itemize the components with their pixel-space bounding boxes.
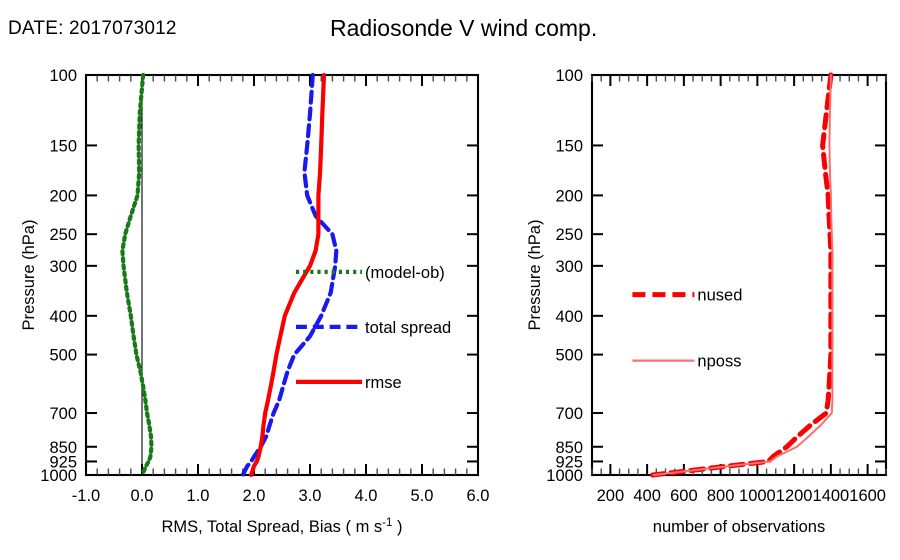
legend-label: nposs — [697, 353, 741, 371]
x-tick-label: 1000 — [739, 487, 776, 505]
y-tick-label: 100 — [49, 67, 77, 85]
x-axis-title-text: RMS, Total Spread, Bias ( m s — [161, 518, 382, 536]
y-tick-label: 700 — [555, 405, 583, 423]
x-tick-label: 0.0 — [131, 487, 154, 505]
x-tick-label: 2.0 — [243, 487, 266, 505]
x-tick-label: 800 — [707, 487, 735, 505]
series-nused — [653, 75, 831, 475]
legend-item-nused: nused — [632, 287, 742, 305]
x-tick-label: 1.0 — [187, 487, 210, 505]
date-label: DATE: 2017073012 — [8, 18, 177, 40]
y-tick-label: 1000 — [40, 467, 77, 485]
panel-right: 2004006008001000120014001600100150200250… — [526, 67, 886, 536]
y-tick-label: 700 — [49, 405, 77, 423]
x-axis-title: number of observations — [653, 518, 825, 536]
figure-canvas: -1.00.01.02.03.04.05.06.0100150200250300… — [0, 0, 900, 560]
y-tick-label: 300 — [49, 258, 77, 276]
x-tick-label: 3.0 — [299, 487, 322, 505]
x-tick-label: 1600 — [849, 487, 886, 505]
x-tick-label: -1.0 — [72, 487, 100, 505]
legend-item-rmse: rmse — [296, 374, 402, 392]
x-axis-title-superscript: -1 — [382, 517, 392, 529]
y-tick-label: 500 — [49, 347, 77, 365]
series-rmse — [251, 75, 324, 475]
x-tick-label: 6.0 — [467, 487, 490, 505]
y-tick-label: 150 — [555, 137, 583, 155]
y-tick-label: 200 — [555, 187, 583, 205]
legend-label: nused — [697, 287, 742, 305]
y-tick-label: 500 — [555, 347, 583, 365]
panel-left: -1.00.01.02.03.04.05.06.0100150200250300… — [20, 67, 489, 536]
x-tick-label: 1200 — [776, 487, 813, 505]
series-nposs — [654, 75, 833, 475]
legend-label: rmse — [365, 374, 402, 392]
y-tick-label: 250 — [555, 226, 583, 244]
chart-page: DATE: 2017073012 Radiosonde V wind comp.… — [0, 0, 900, 560]
legend-item-nposs: nposs — [632, 353, 741, 371]
x-tick-label: 1400 — [813, 487, 850, 505]
y-tick-label: 400 — [555, 308, 583, 326]
y-tick-label: 200 — [49, 187, 77, 205]
x-tick-label: 400 — [633, 487, 661, 505]
x-tick-label: 4.0 — [355, 487, 378, 505]
x-tick-label: 600 — [670, 487, 698, 505]
x-axis-title-tail: ) — [392, 518, 402, 536]
x-tick-label: 5.0 — [411, 487, 434, 505]
y-tick-label: 300 — [555, 258, 583, 276]
legend-item--model-ob-: (model-ob) — [296, 264, 445, 282]
legend-label: (model-ob) — [365, 264, 445, 282]
y-axis-title: Pressure (hPa) — [526, 220, 544, 331]
series--model-ob- — [122, 75, 151, 475]
y-tick-label: 150 — [49, 137, 77, 155]
y-tick-label: 1000 — [546, 467, 583, 485]
page-title: Radiosonde V wind comp. — [330, 15, 597, 42]
y-tick-label: 100 — [555, 67, 583, 85]
x-axis-title: RMS, Total Spread, Bias ( m s-1 ) — [161, 517, 402, 536]
x-tick-label: 200 — [597, 487, 625, 505]
plot-frame — [592, 75, 886, 475]
legend-label: total spread — [365, 319, 451, 337]
y-tick-label: 250 — [49, 226, 77, 244]
y-tick-label: 400 — [49, 308, 77, 326]
y-axis-title: Pressure (hPa) — [20, 220, 38, 331]
